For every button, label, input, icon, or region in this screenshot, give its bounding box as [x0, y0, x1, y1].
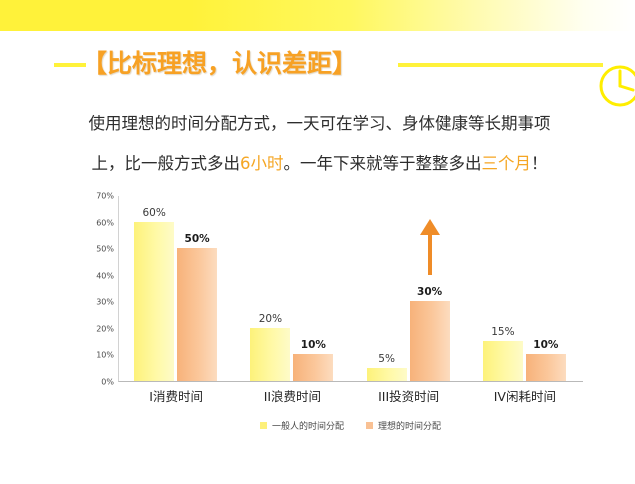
- bar-group: 5%30%: [355, 196, 465, 381]
- bar-average: [134, 222, 174, 381]
- bar-group: 60%50%: [122, 196, 232, 381]
- bar-value-label: 15%: [475, 326, 531, 338]
- y-axis-tick: 20%: [78, 324, 114, 333]
- page-title: 【比标理想，认识差距】: [82, 42, 402, 86]
- bar-average: [367, 368, 407, 381]
- body-line-1: 使用理想的时间分配方式，一天可在学习、身体健康等长期事项: [62, 104, 577, 144]
- body-paragraph: 使用理想的时间分配方式，一天可在学习、身体健康等长期事项 上，比一般方式多出6小…: [62, 104, 577, 184]
- x-axis-tick: IV闲耗时间: [470, 386, 580, 405]
- body-highlight-hours: 6小时: [240, 154, 284, 173]
- chart-legend: 一般人的时间分配理想的时间分配: [118, 416, 583, 434]
- bar-chart: 0%10%20%30%40%50%60%70% 60%50%20%10%5%30…: [78, 194, 583, 444]
- legend-swatch-icon: [260, 422, 267, 429]
- bar-value-label: 10%: [285, 339, 341, 351]
- y-axis-tick: 30%: [78, 298, 114, 307]
- x-axis-tick: I消费时间: [121, 386, 231, 405]
- bar-value-label: 20%: [242, 313, 298, 325]
- x-axis-tick: III投资时间: [354, 386, 464, 405]
- bar-value-label: 30%: [402, 286, 458, 298]
- up-arrow-annotation-icon: [419, 219, 441, 275]
- bar-ideal: [177, 248, 217, 381]
- y-axis: 0%10%20%30%40%50%60%70%: [78, 194, 114, 380]
- top-yellow-banner: [0, 0, 635, 31]
- y-axis-tick: 0%: [78, 378, 114, 387]
- legend-item[interactable]: 理想的时间分配: [366, 419, 441, 432]
- y-axis-tick: 70%: [78, 192, 114, 201]
- title-rule-right: [398, 63, 603, 67]
- legend-label: 一般人的时间分配: [272, 419, 344, 432]
- bar-average: [483, 341, 523, 381]
- bar-value-label: 5%: [359, 353, 415, 365]
- bar-group: 20%10%: [238, 196, 348, 381]
- y-axis-tick: 10%: [78, 351, 114, 360]
- bar-value-label: 10%: [518, 339, 574, 351]
- body-line2-part-b: 。一年下来就等于整整多出: [284, 154, 482, 173]
- bar-ideal: [410, 301, 450, 381]
- bar-average: [250, 328, 290, 381]
- bar-group: 15%10%: [471, 196, 581, 381]
- x-axis: I消费时间II浪费时间III投资时间IV闲耗时间: [118, 386, 583, 408]
- plot-area: 60%50%20%10%5%30%15%10%: [118, 196, 583, 382]
- y-axis-tick: 60%: [78, 218, 114, 227]
- x-axis-tick: II浪费时间: [237, 386, 347, 405]
- clock-icon: [598, 64, 635, 108]
- bar-ideal: [526, 354, 566, 381]
- y-axis-tick: 50%: [78, 245, 114, 254]
- body-line2-part-a: 上，比一般方式多出: [92, 154, 241, 173]
- title-row: 【比标理想，认识差距】: [0, 42, 635, 86]
- legend-label: 理想的时间分配: [378, 419, 441, 432]
- body-line-2: 上，比一般方式多出6小时。一年下来就等于整整多出三个月！: [62, 144, 577, 184]
- bar-value-label: 50%: [169, 233, 225, 245]
- body-line2-part-c: ！: [531, 154, 548, 173]
- legend-item[interactable]: 一般人的时间分配: [260, 419, 344, 432]
- body-highlight-months: 三个月: [482, 154, 532, 173]
- y-axis-tick: 40%: [78, 271, 114, 280]
- legend-swatch-icon: [366, 422, 373, 429]
- bar-ideal: [293, 354, 333, 381]
- bar-value-label: 60%: [126, 207, 182, 219]
